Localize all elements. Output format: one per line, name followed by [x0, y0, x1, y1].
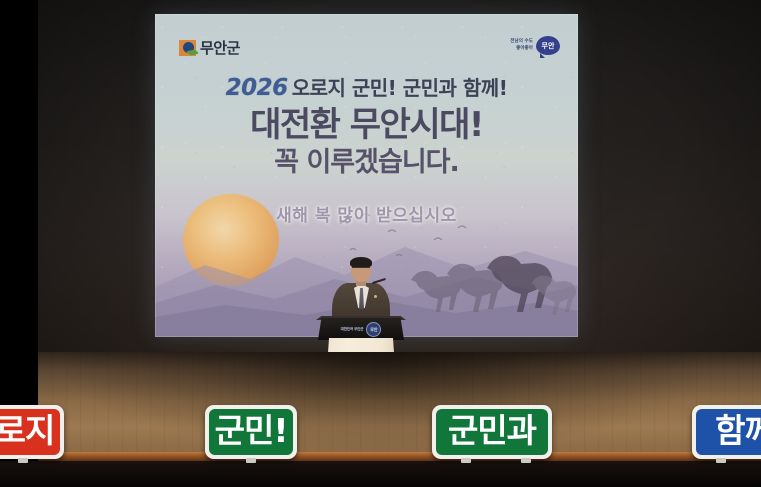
- speaker-lapel-pin: [374, 295, 377, 298]
- prop-letter-hamkke-text: 함께: [696, 409, 761, 455]
- emblem-tagline-line1: 전남의 수도: [510, 39, 533, 45]
- prop-letter-gunmingwa-text: 군민과: [436, 409, 548, 455]
- prop-letter-hamkke: 함께: [692, 405, 761, 459]
- stage-scene: 무안군 전남의 수도 좋아좋아 무안 2026오로지 군민! 군민과 함께! 대…: [0, 0, 761, 487]
- slide-logo-wordmark: 무안군: [200, 41, 240, 56]
- emblem-tagline-line2: 좋아좋아: [510, 46, 533, 52]
- slide-text-block: 2026오로지 군민! 군민과 함께! 대전환 무안시대! 꼭 이루겠습니다. …: [155, 72, 578, 226]
- podium-dark-front: 대한민국 무안군 무안: [318, 318, 404, 340]
- emblem-badge: 무안: [536, 36, 560, 55]
- slide-muan-logo: 무안군: [179, 40, 240, 56]
- prop-letter-gunmingwa: 군민과: [432, 405, 552, 459]
- prop-foot-hamkke: [716, 458, 726, 463]
- prop-foot-gunmin: [246, 458, 256, 463]
- emblem-tagline: 전남의 수도 좋아좋아: [510, 39, 533, 51]
- running-horses-icon: [403, 242, 578, 337]
- prop-foot-gunmingwa-right: [521, 458, 531, 463]
- muan-county-emblem-icon: [179, 40, 196, 56]
- slide-brand-emblem: 전남의 수도 좋아좋아 무안: [510, 36, 560, 55]
- stage-apron-dark: [0, 461, 761, 487]
- prop-letter-roji: 로지: [0, 405, 64, 459]
- slide-year: 2026: [226, 75, 288, 101]
- slide-headline-line1-text: 오로지 군민! 군민과 함께!: [292, 76, 508, 100]
- stage-edge-lip: [38, 452, 761, 461]
- prop-letter-gunmin-text: 군민!: [209, 409, 293, 455]
- microphone-icon: [372, 278, 386, 284]
- prop-letter-roji-text: 로지: [0, 409, 60, 455]
- podium-nameplate-text: 대한민국 무안군: [341, 327, 364, 332]
- stage-floor-shadow: [38, 352, 761, 456]
- glasses-icon: [352, 267, 370, 273]
- prop-foot-roji: [18, 458, 28, 463]
- slide-greeting: 새해 복 많이 받으십시오: [155, 201, 578, 226]
- slide-headline-line2: 대전환 무안시대!: [155, 108, 578, 144]
- podium-nameplate: 대한민국 무안군 무안: [318, 322, 404, 337]
- prop-foot-gunmingwa-left: [461, 458, 471, 463]
- slide-headline-line1: 2026오로지 군민! 군민과 함께!: [155, 72, 578, 101]
- prop-letter-gunmin: 군민!: [205, 405, 297, 459]
- slide-headline-line3: 꼭 이루겠습니다.: [155, 149, 578, 177]
- podium-seal: 무안: [366, 322, 381, 337]
